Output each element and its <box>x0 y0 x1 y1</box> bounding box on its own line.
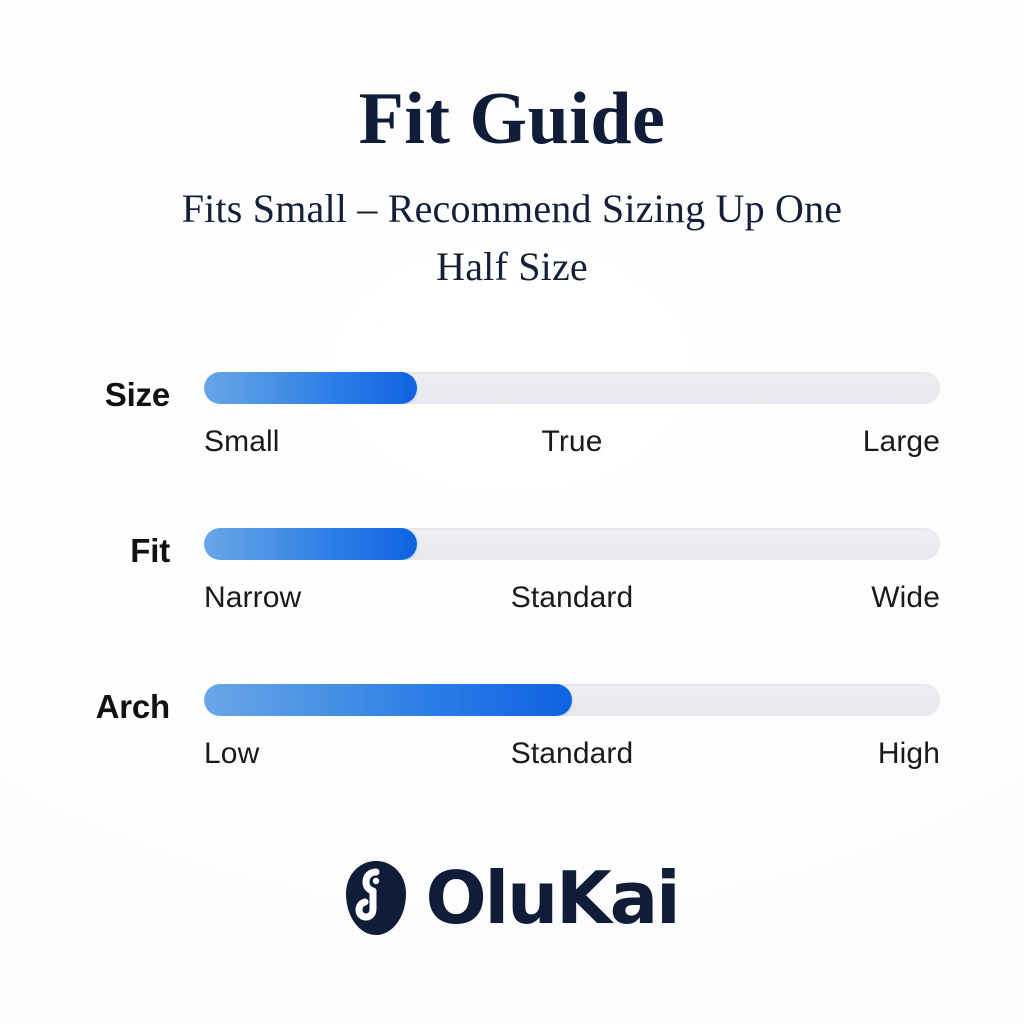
slider-track-size[interactable] <box>204 372 940 404</box>
brand-name: OluKai <box>425 860 678 936</box>
slider-fit[interactable]: Narrow Standard Wide <box>204 528 940 618</box>
slider-scale-fit: Narrow Standard Wide <box>204 578 940 618</box>
slider-scale-size: Small True Large <box>204 422 940 462</box>
page-title: Fit Guide <box>0 76 1024 162</box>
slider-row-size: Size Small True Large <box>0 372 1024 528</box>
scale-label-right: Wide <box>871 578 940 618</box>
scale-label-right: Large <box>863 422 940 462</box>
slider-label-fit: Fit <box>0 528 170 574</box>
slider-rows: Size Small True Large Fit Narrow <box>0 372 1024 840</box>
slider-arch[interactable]: Low Standard High <box>204 684 940 774</box>
scale-label-right: High <box>878 734 940 774</box>
slider-label-arch: Arch <box>0 684 170 730</box>
slider-fill-fit <box>204 528 417 560</box>
scale-label-middle: Standard <box>511 734 634 774</box>
page-subtitle: Fits Small – Recommend Sizing Up One Hal… <box>162 180 862 296</box>
slider-size[interactable]: Small True Large <box>204 372 940 462</box>
scale-label-middle: True <box>542 422 603 462</box>
slider-row-arch: Arch Low Standard High <box>0 684 1024 840</box>
slider-fill-arch <box>204 684 572 716</box>
slider-row-fit: Fit Narrow Standard Wide <box>0 528 1024 684</box>
fit-guide-card: Fit Guide Fits Small – Recommend Sizing … <box>0 0 1024 1024</box>
scale-label-left: Narrow <box>204 578 301 618</box>
scale-label-left: Low <box>204 734 259 774</box>
header: Fit Guide Fits Small – Recommend Sizing … <box>0 76 1024 296</box>
slider-fill-size <box>204 372 417 404</box>
slider-track-arch[interactable] <box>204 684 940 716</box>
brand-footer: OluKai <box>0 860 1024 936</box>
slider-label-size: Size <box>0 372 170 418</box>
fishhook-icon <box>345 860 407 936</box>
slider-track-fit[interactable] <box>204 528 940 560</box>
scale-label-left: Small <box>204 422 280 462</box>
slider-scale-arch: Low Standard High <box>204 734 940 774</box>
scale-label-middle: Standard <box>511 578 634 618</box>
